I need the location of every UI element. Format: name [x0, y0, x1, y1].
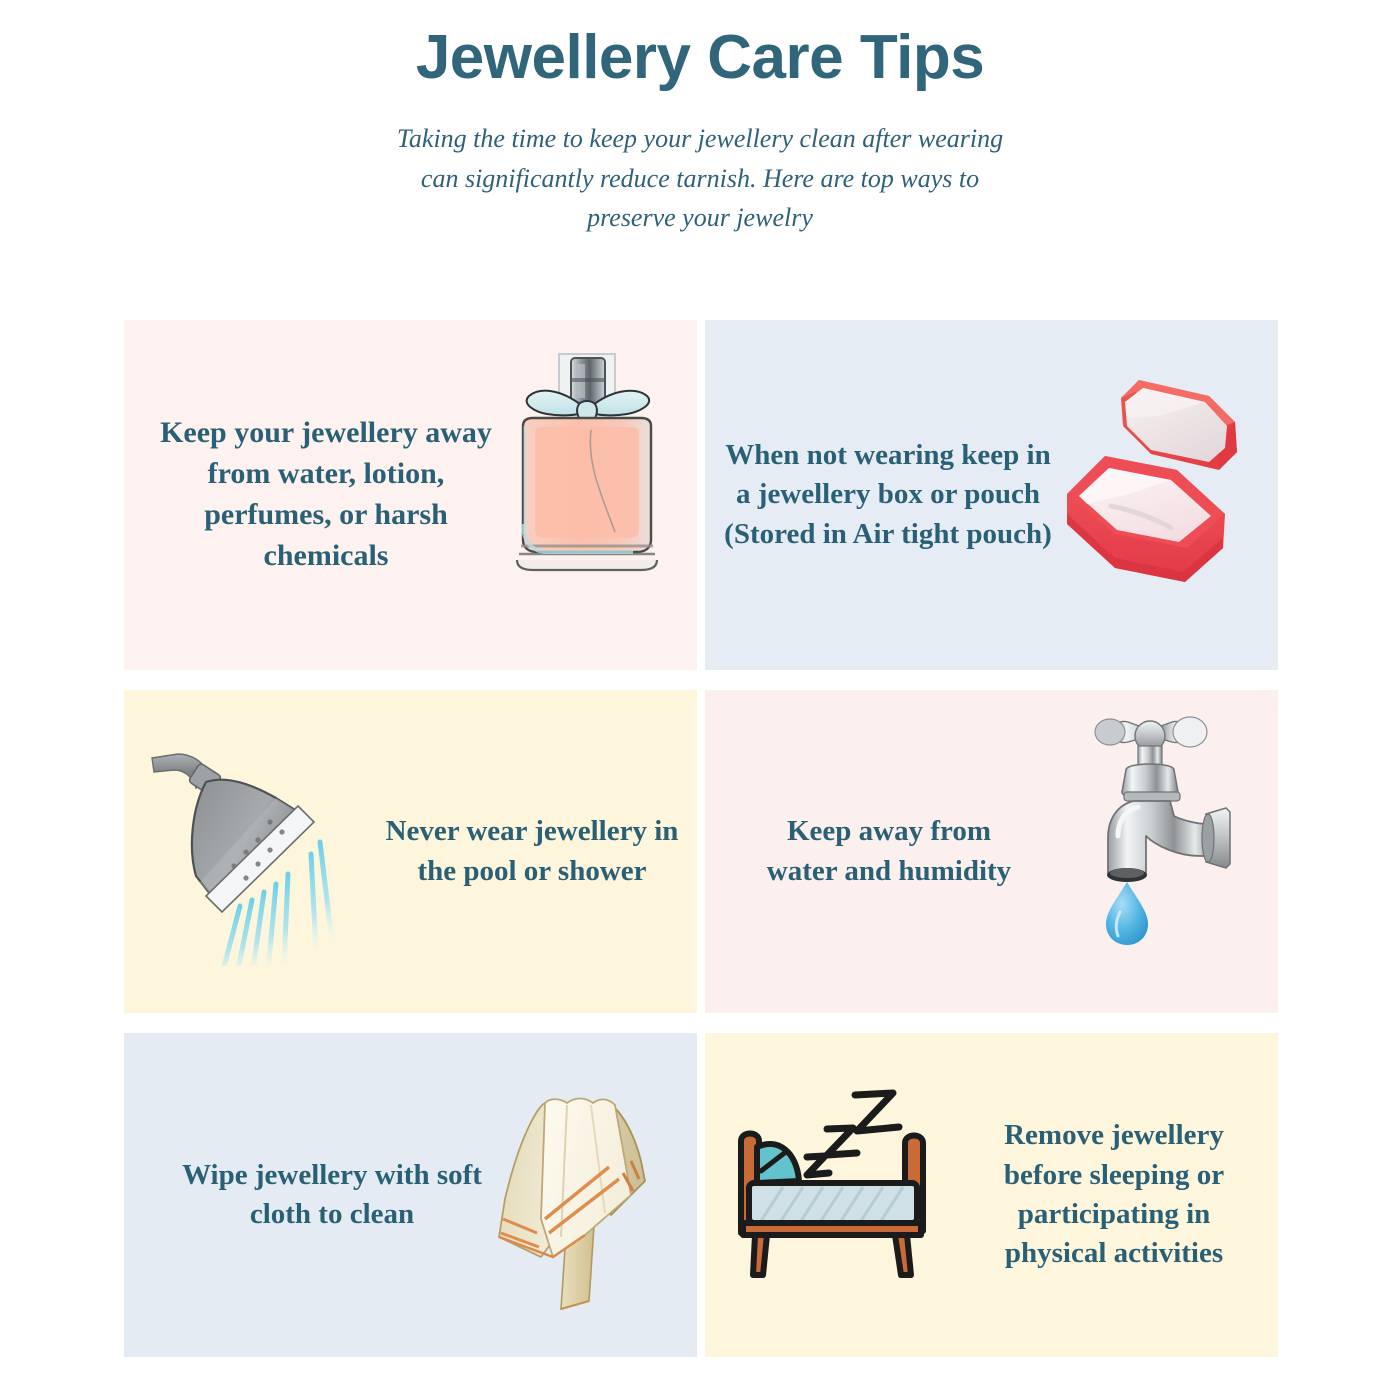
shower-head-icon — [148, 736, 363, 966]
tips-grid: Keep your jewellery away from water, lot… — [124, 320, 1275, 1357]
perfume-bottle-icon — [487, 334, 687, 584]
tip-card-sleeping-activities: Remove jewellery before sleeping or part… — [705, 1033, 1278, 1357]
faucet-drip-icon — [1050, 696, 1250, 951]
page-title: Jewellery Care Tips — [0, 22, 1400, 93]
tip-card-label: Never wear jewellery in the pool or show… — [382, 812, 682, 891]
tip-card-label: Keep your jewellery away from water, lot… — [146, 413, 506, 576]
tip-card-label: Wipe jewellery with soft cloth to clean — [182, 1156, 482, 1235]
tip-card-water-humidity: Keep away from water and humidity — [705, 690, 1278, 1013]
tip-card-label: When not wearing keep in a jewellery box… — [723, 436, 1053, 554]
cloth-icon — [485, 1087, 685, 1322]
page-subtitle: Taking the time to keep your jewellery c… — [380, 119, 1020, 238]
tip-card-soft-cloth: Wipe jewellery with soft cloth to clean — [124, 1033, 697, 1357]
tip-card-pool-shower: Never wear jewellery in the pool or show… — [124, 690, 697, 1013]
tip-card-water-lotion-perfume: Keep your jewellery away from water, lot… — [124, 320, 697, 670]
tip-card-label: Keep away from water and humidity — [749, 812, 1029, 891]
bed-sleep-icon — [727, 1083, 957, 1288]
infographic-page: Jewellery Care Tips Taking the time to k… — [0, 0, 1400, 1400]
tip-card-label: Remove jewellery before sleeping or part… — [969, 1116, 1259, 1274]
header: Jewellery Care Tips Taking the time to k… — [0, 0, 1400, 238]
tip-card-jewellery-box: When not wearing keep in a jewellery box… — [705, 320, 1278, 670]
jewellery-box-icon — [1059, 356, 1274, 591]
